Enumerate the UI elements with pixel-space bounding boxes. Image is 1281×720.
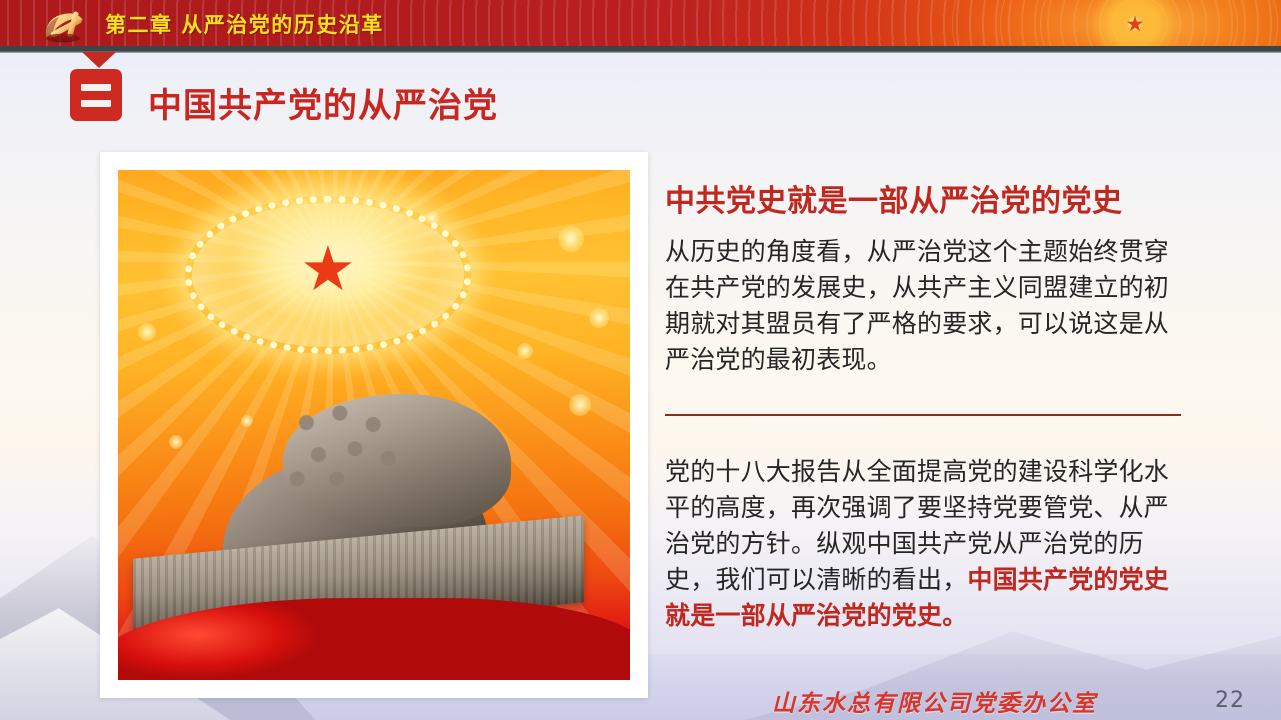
slide-header-bar: ★ [0,0,1281,46]
hammer-sickle-icon [36,4,96,44]
header-shadow-strip [0,46,1281,53]
badge-pointer-triangle-icon [82,52,116,68]
header-title: 第二章 从严治党的历史沿革 [105,9,384,39]
section-title: 中国共产党的从严治党 [148,78,498,127]
lion-statue-photo: ★ [118,170,630,680]
content-divider [665,414,1181,416]
bokeh-light [589,308,609,328]
lion-mane-curls [279,400,431,494]
content-paragraph-1: 从历史的角度看，从严治党这个主题始终贯穿在共产党的发展史，从共产主义同盟建立的初… [665,234,1190,378]
red-silk-drape [118,598,630,680]
section-badge-group: 二 [70,52,138,121]
content-lead-heading: 中共党史就是一部从严治党的党史 [665,176,1190,220]
photo-frame: ★ [100,152,648,698]
section-number-badge: 二 [70,69,122,121]
presentation-slide: ★ [0,0,1281,720]
content-paragraph-2: 党的十八大报告从全面提高党的建设科学化水平的高度，再次强调了要坚持党要管党、从严… [665,454,1190,634]
page-number: 22 [1215,688,1245,713]
header-star-icon: ★ [1124,14,1146,36]
red-star-icon: ★ [295,234,362,300]
content-text-column: 中共党史就是一部从严治党的党史 从历史的角度看，从严治党这个主题始终贯穿在共产党… [665,176,1190,634]
section-badge-number: 二 [70,69,122,121]
footer-organization: 山东水总有限公司党委办公室 [772,684,1097,718]
bokeh-light [425,211,439,225]
